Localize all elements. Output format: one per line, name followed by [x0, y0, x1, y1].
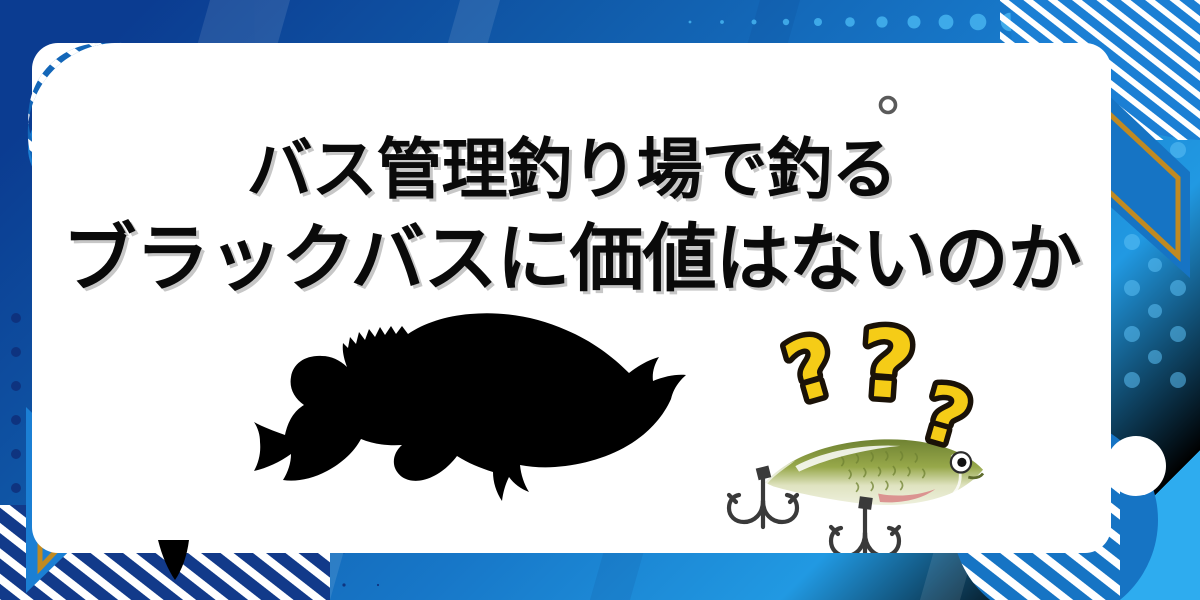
question-mark-3: ?	[913, 367, 980, 465]
black-bass-silhouette	[254, 313, 686, 501]
fishing-lure	[729, 98, 983, 554]
content-card: ? ? ? バス管理釣り場で釣る ブラックバスに価値はないのか	[32, 43, 1111, 553]
hook-hanger-rear	[858, 496, 873, 510]
question-mark-1: ?	[775, 318, 847, 422]
treble-hook-rear	[831, 505, 899, 553]
question-mark-2: ?	[856, 309, 918, 422]
small-circle-bottom-right	[1106, 436, 1166, 496]
card-artwork: ? ? ?	[32, 43, 1111, 553]
